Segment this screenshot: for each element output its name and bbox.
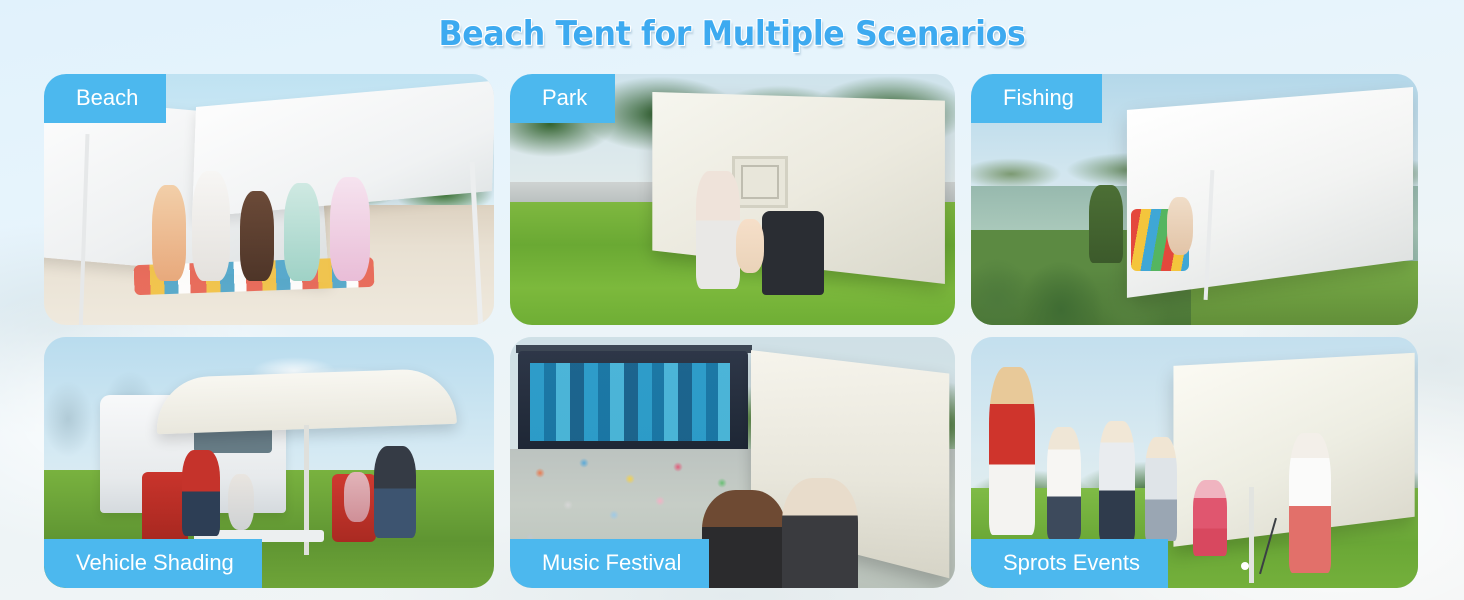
person-figure: [344, 472, 370, 522]
scenario-card-sprots-events[interactable]: Sprots Events: [971, 337, 1418, 588]
person-figure: [782, 478, 858, 588]
person-figure: [240, 191, 274, 281]
scenario-label-sprots-events: Sprots Events: [971, 539, 1168, 588]
baby-figure: [736, 219, 764, 273]
person-figure: [374, 446, 416, 538]
umbrella-pole: [1249, 487, 1254, 583]
scenario-card-fishing[interactable]: Fishing: [971, 74, 1418, 325]
person-figure: [989, 367, 1035, 535]
scenario-label-music-festival: Music Festival: [510, 539, 709, 588]
person-figure: [702, 490, 786, 588]
person-figure: [1167, 197, 1193, 255]
tent-vent-window: [732, 156, 788, 208]
person-figure: [1099, 421, 1135, 541]
person-figure: [228, 474, 254, 530]
person-figure: [1089, 185, 1123, 263]
person-figure: [330, 177, 370, 281]
scenario-card-music-festival[interactable]: Music Festival: [510, 337, 955, 588]
scenario-label-vehicle-shading: Vehicle Shading: [44, 539, 262, 588]
person-figure: [152, 185, 186, 281]
person-figure: [1193, 480, 1227, 556]
person-figure: [284, 183, 320, 281]
person-figure: [1047, 427, 1081, 539]
scenario-card-park[interactable]: Park: [510, 74, 955, 325]
person-figure: [1145, 437, 1177, 541]
scenario-label-fishing: Fishing: [971, 74, 1102, 123]
scenario-card-beach[interactable]: Beach: [44, 74, 494, 325]
scenario-label-beach: Beach: [44, 74, 166, 123]
person-figure: [192, 171, 230, 281]
person-figure: [182, 450, 220, 536]
scenario-grid: Beach Park Fishing: [44, 74, 1420, 588]
scenario-label-park: Park: [510, 74, 615, 123]
stage-screen: [530, 363, 730, 441]
person-figure: [1289, 433, 1331, 573]
scenario-card-vehicle-shading[interactable]: Vehicle Shading: [44, 337, 494, 588]
camp-chair: [762, 211, 824, 295]
golf-ball: [1241, 562, 1249, 570]
page-title: Beach Tent for Multiple Scenarios: [51, 14, 1413, 54]
person-figure: [696, 171, 740, 289]
